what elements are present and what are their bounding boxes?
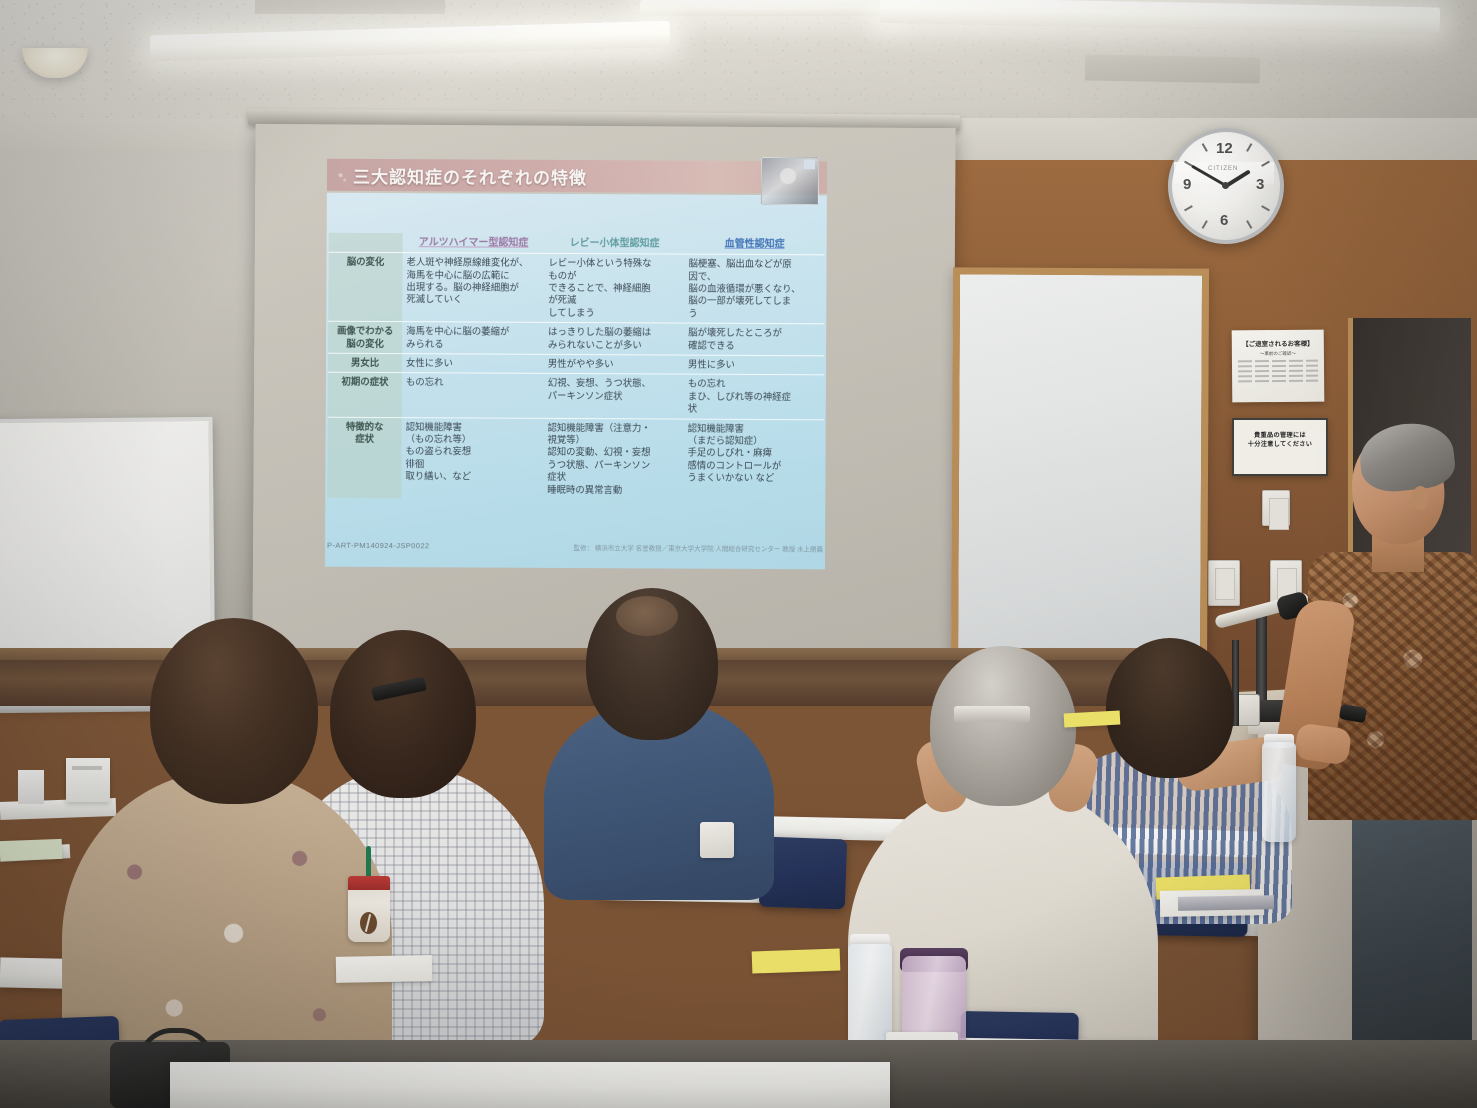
row-label: 脳の変化 — [328, 252, 402, 321]
clock-brand: CITIZEN — [1208, 166, 1238, 172]
papers-left[interactable] — [0, 839, 62, 861]
cell-alzheimer: 老人斑や神経原線維変化が、 海馬を中心に脳の広範に 出現する。脳の神経細胞が 死… — [402, 253, 544, 323]
seminar-room-photo: 12 3 6 9 CITIZEN 【ご退室されるお客様】 〜事前のご確認〜 貴重… — [0, 0, 1477, 1108]
table-row: 脳の変化 老人斑や神経原線維変化が、 海馬を中心に脳の広範に 出現する。脳の神経… — [328, 252, 824, 324]
table-row: 画像でわかる 脳の変化 海馬を中心に脳の萎縮が みられる はっきりした脳の萎縮は… — [328, 321, 824, 355]
cell-lewy: 幻視、妄想、うつ状態、 パーキンソン症状 — [544, 374, 684, 419]
wall-clock: 12 3 6 9 CITIZEN — [1168, 128, 1284, 244]
dementia-comparison-table: アルツハイマー型認知症 レビー小体型認知症 血管性認知症 脳の変化 老人斑や神経… — [327, 233, 824, 501]
audience-head — [330, 630, 476, 798]
presenter-ear — [1412, 486, 1429, 510]
cell-alzheimer: もの忘れ — [402, 373, 544, 418]
table-row: 初期の症状 もの忘れ 幻視、妄想、うつ状態、 パーキンソン症状 もの忘れ まひ、… — [328, 373, 824, 420]
row-label: 初期の症状 — [328, 373, 402, 418]
yellow-handout[interactable] — [752, 948, 841, 973]
audience-crown — [616, 596, 678, 636]
cell-lewy: はっきりした脳の萎縮は みられないことが多い — [544, 323, 684, 356]
latte-cup[interactable] — [348, 876, 390, 942]
cell-vascular: 男性に多い — [684, 355, 824, 375]
clock-numeral-12: 12 — [1216, 140, 1233, 157]
whiteboard-right — [951, 267, 1209, 682]
header-alzheimer: アルツハイマー型認知症 — [403, 233, 545, 253]
table-row: 男女比 女性に多い 男性がやや多い 男性に多い — [328, 353, 824, 375]
water-bottle-right[interactable] — [1262, 742, 1296, 842]
cell-vascular: 脳が壊死したところが 確認できる — [684, 323, 824, 356]
cell-alzheimer: 認知機能障害 （もの忘れ等） もの盗られ妄想 徘徊 取り繕い、など — [401, 417, 543, 499]
exit-notice: 【ご退室されるお客様】 〜事前のご確認〜 — [1232, 330, 1325, 403]
ceiling-vent-right — [1085, 54, 1260, 83]
wall-switch-left[interactable] — [1208, 560, 1240, 606]
cell-alzheimer: 女性に多い — [402, 354, 544, 374]
valuables-notice-text: 貴重品の管理には 十分注意してください — [1234, 431, 1326, 450]
hair-clip — [954, 706, 1030, 722]
exit-notice-subtitle: 〜事前のご確認〜 — [1232, 351, 1324, 358]
cell-lewy: 認知機能障害（注意力・ 視覚等） 認知の変動、幻視・妄想 うつ状態、パーキンソン… — [543, 418, 683, 500]
tissue-box-small[interactable] — [18, 770, 44, 804]
valuables-notice: 貴重品の管理には 十分注意してください — [1232, 418, 1328, 476]
wall-switch-upper[interactable] — [1262, 490, 1290, 526]
cell-alzheimer: 海馬を中心に脳の萎縮が みられる — [402, 322, 544, 355]
table-header-row: アルツハイマー型認知症 レビー小体型認知症 血管性認知症 — [329, 233, 825, 255]
clock-numeral-3: 3 — [1256, 176, 1264, 193]
exit-notice-title: 【ご退室されるお客様】 — [1232, 338, 1324, 349]
clock-numeral-9: 9 — [1183, 176, 1191, 193]
cell-vascular: もの忘れ まひ、しびれ等の神経症 状 — [684, 375, 824, 420]
audience-head — [150, 618, 318, 804]
audience-head-grey — [930, 646, 1076, 806]
header-blank — [329, 233, 403, 253]
handout-papers[interactable] — [336, 955, 432, 983]
clock-numeral-6: 6 — [1220, 212, 1228, 229]
projected-slide: 三大認知症のそれぞれの特徴 アルツハイマー型認知症 レビー小体型認知症 血管性認… — [311, 159, 833, 572]
row-label: 特徴的な 症状 — [327, 417, 401, 498]
cell-lewy: 男性がやや多い — [544, 354, 684, 374]
slide-footer-credit: 監修： 横浜市立大学 名誉教授／東京大学大学院 人間総合研究センター 教授 水上… — [573, 542, 823, 553]
clock-center-pin — [1222, 182, 1229, 189]
cell-vascular: 認知機能障害 （まだら認知症） 手足のしびれ・麻痺 感情のコントロールが うまく… — [683, 419, 823, 501]
book-on-desk[interactable] — [1178, 895, 1274, 911]
tissue-box[interactable] — [66, 758, 110, 802]
slide-title: 三大認知症のそれぞれの特徴 — [353, 163, 587, 189]
desk-front-left — [170, 1062, 890, 1108]
slide-title-photo — [761, 157, 819, 205]
fluorescent-light-3 — [640, 0, 890, 16]
slide-footer-code: P-ART-PM140924-JSP0022 — [327, 541, 430, 552]
table-row: 特徴的な 症状 認知機能障害 （もの忘れ等） もの盗られ妄想 徘徊 取り繕い、な… — [327, 417, 823, 501]
cell-vascular: 脳梗塞、脳出血などが原 因で、 脳の血液循環が悪くなり、 脳の一部が壊死してしま… — [684, 254, 824, 324]
row-label: 画像でわかる 脳の変化 — [328, 321, 402, 353]
yellow-handout[interactable] — [1064, 711, 1121, 728]
small-box-on-desk[interactable] — [700, 822, 734, 858]
audience-head — [1106, 638, 1234, 778]
ceiling-vent — [255, 0, 445, 14]
header-vascular: 血管性認知症 — [685, 235, 825, 255]
header-lewy: レビー小体型認知症 — [545, 234, 685, 254]
cell-lewy: レビー小体という特殊な ものが できることで、神経細胞 が死滅 してしまう — [544, 254, 684, 324]
slide-title-decoration — [335, 169, 349, 185]
row-label: 男女比 — [328, 353, 402, 373]
document-camera-post — [1256, 608, 1267, 708]
